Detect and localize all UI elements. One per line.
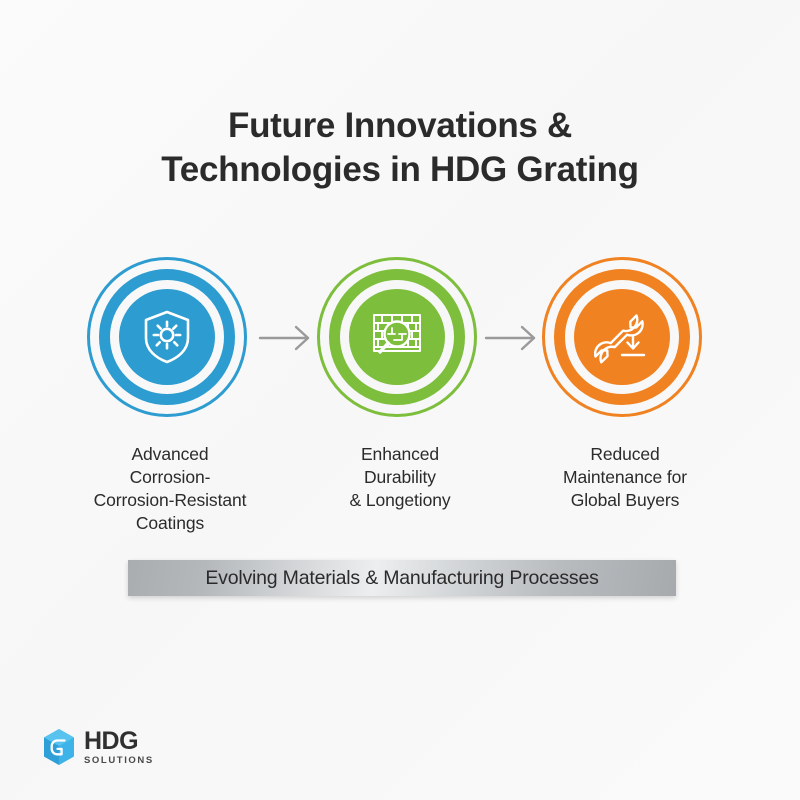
step-item-1: Advanced Corrosion- Corrosion-Resistant … bbox=[55, 255, 285, 535]
step-1-circle bbox=[85, 255, 255, 425]
page-title: Future Innovations & Technologies in HDG… bbox=[0, 104, 800, 192]
hdg-hexagon-logo-icon bbox=[42, 728, 76, 766]
step-2-circle bbox=[315, 255, 485, 425]
step-3-disc bbox=[574, 289, 670, 385]
step-2-label-line-1: Enhanced bbox=[285, 443, 515, 466]
page-title-line-2: Technologies in HDG Grating bbox=[0, 148, 800, 192]
page-title-line-1: Future Innovations & bbox=[0, 104, 800, 148]
brand-logo: HDG SOLUTIONS bbox=[42, 728, 154, 766]
process-steps: Advanced Corrosion- Corrosion-Resistant … bbox=[0, 255, 800, 555]
brand-logo-text: HDG SOLUTIONS bbox=[84, 729, 154, 766]
step-2-label-line-3: & Longetiony bbox=[285, 489, 515, 512]
magnifier-brickwall-icon bbox=[368, 311, 426, 363]
brand-tagline: SOLUTIONS bbox=[84, 756, 154, 766]
step-1-label: Advanced Corrosion- Corrosion-Resistant … bbox=[55, 443, 285, 535]
step-1-label-line-1: Advanced bbox=[55, 443, 285, 466]
step-1-label-line-2: Corrosion- bbox=[55, 466, 285, 489]
step-3-label-line-3: Global Buyers bbox=[510, 489, 740, 512]
step-item-2: Enhanced Durability & Longetiony bbox=[285, 255, 515, 512]
step-1-disc bbox=[119, 289, 215, 385]
brand-name: HDG bbox=[84, 729, 154, 754]
step-1-label-line-4: Coatings bbox=[55, 512, 285, 535]
step-2-label: Enhanced Durability & Longetiony bbox=[285, 443, 515, 512]
infographic-canvas: Future Innovations & Technologies in HDG… bbox=[0, 0, 800, 800]
step-1-label-line-3: Corrosion-Resistant bbox=[55, 489, 285, 512]
step-item-3: Reduced Maintenance for Global Buyers bbox=[510, 255, 740, 512]
wrench-down-arrow-icon bbox=[594, 310, 650, 364]
step-3-circle bbox=[540, 255, 710, 425]
step-3-label-line-2: Maintenance for bbox=[510, 466, 740, 489]
step-2-label-line-2: Durability bbox=[285, 466, 515, 489]
step-2-disc bbox=[349, 289, 445, 385]
step-3-label: Reduced Maintenance for Global Buyers bbox=[510, 443, 740, 512]
summary-banner-text: Evolving Materials & Manufacturing Proce… bbox=[205, 567, 598, 590]
step-3-label-line-1: Reduced bbox=[510, 443, 740, 466]
shield-gear-icon bbox=[140, 309, 194, 365]
summary-banner: Evolving Materials & Manufacturing Proce… bbox=[128, 560, 676, 596]
